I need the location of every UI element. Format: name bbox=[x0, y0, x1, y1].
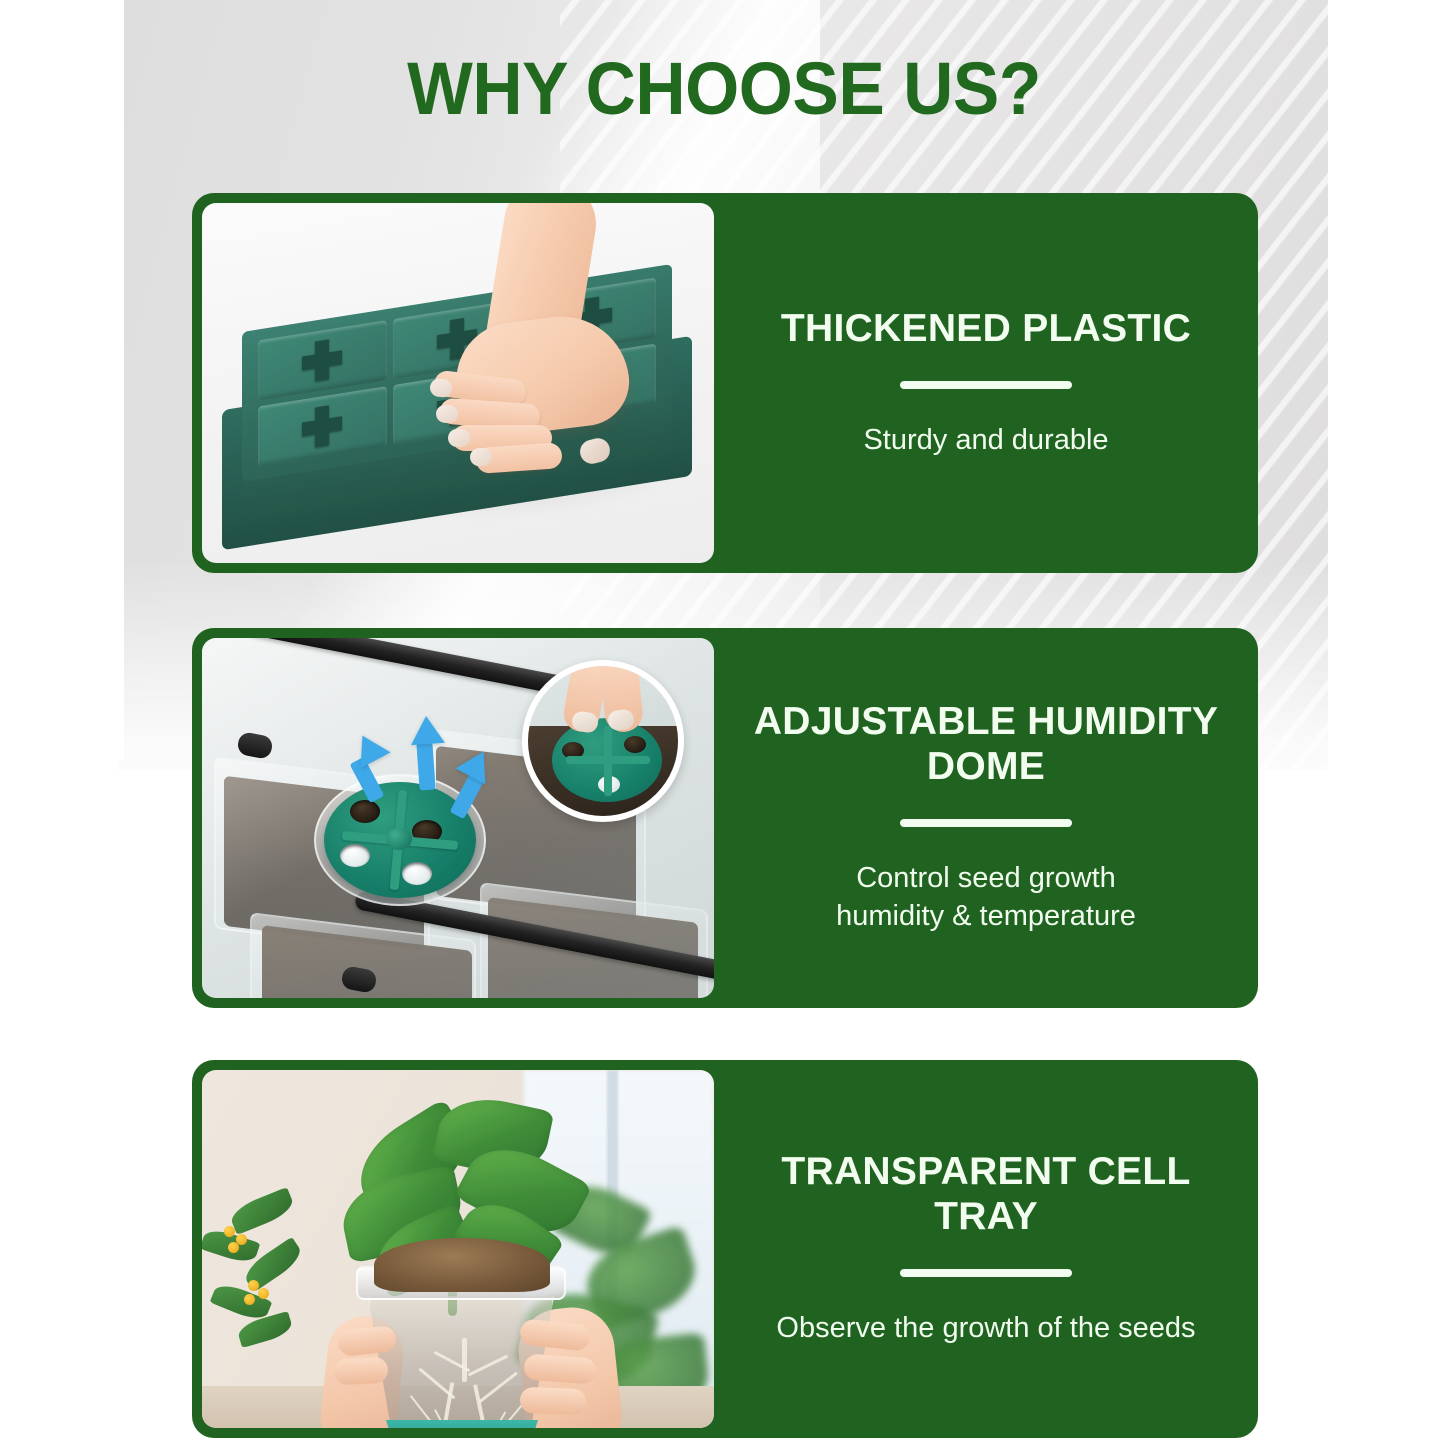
fingernail bbox=[448, 429, 470, 447]
root bbox=[410, 1395, 433, 1423]
feature-subtitle: Observe the growth of the seeds bbox=[776, 1309, 1195, 1347]
vent-closeup-inset bbox=[522, 660, 684, 822]
vent-hole bbox=[340, 844, 370, 867]
feature-photo-humidity-dome bbox=[202, 638, 714, 998]
vent-spoke bbox=[604, 726, 612, 796]
divider-line bbox=[900, 819, 1072, 827]
divider-line bbox=[900, 381, 1072, 389]
feature-subtitle: Sturdy and durable bbox=[863, 421, 1108, 459]
berry bbox=[228, 1242, 239, 1253]
feature-heading: TRANSPARENT CELL TRAY bbox=[742, 1150, 1230, 1239]
finger bbox=[333, 1357, 388, 1386]
fingernail bbox=[435, 404, 458, 423]
berry bbox=[248, 1280, 259, 1291]
cross-indent-icon bbox=[302, 337, 342, 383]
feature-heading: ADJUSTABLE HUMIDITY DOME bbox=[742, 700, 1230, 789]
airflow-arrow-stem bbox=[416, 742, 435, 791]
root bbox=[462, 1338, 467, 1382]
cross-indent-icon bbox=[302, 403, 342, 449]
berry bbox=[258, 1288, 269, 1299]
berry bbox=[244, 1294, 255, 1305]
berry bbox=[224, 1226, 235, 1237]
soil-plug bbox=[374, 1238, 550, 1292]
finger bbox=[523, 1354, 597, 1385]
feature-card-transparent-cell-tray: TRANSPARENT CELL TRAY Observe the growth… bbox=[192, 1060, 1258, 1438]
vent-hole bbox=[350, 800, 380, 823]
feature-card-adjustable-humidity-dome: ADJUSTABLE HUMIDITY DOME Control seed gr… bbox=[192, 628, 1258, 1008]
divider-line bbox=[900, 1269, 1072, 1277]
berry-branch bbox=[208, 1148, 318, 1368]
pot-teal-base bbox=[386, 1420, 538, 1428]
feature-text-panel: THICKENED PLASTIC Sturdy and durable bbox=[714, 193, 1258, 573]
finger bbox=[520, 1387, 587, 1415]
feature-card-thickened-plastic: THICKENED PLASTIC Sturdy and durable bbox=[192, 193, 1258, 573]
vent-hub bbox=[386, 828, 412, 850]
tray-cell bbox=[258, 386, 387, 466]
feature-subtitle-line1: Control seed growth bbox=[856, 862, 1116, 894]
vent-hole bbox=[402, 862, 432, 885]
feature-heading: THICKENED PLASTIC bbox=[781, 307, 1191, 351]
page-title: WHY CHOOSE US? bbox=[43, 46, 1404, 131]
leaf bbox=[236, 1311, 294, 1348]
feature-text-panel: TRANSPARENT CELL TRAY Observe the growth… bbox=[714, 1060, 1258, 1438]
leaf bbox=[227, 1187, 296, 1235]
vent-disc bbox=[324, 782, 476, 898]
feature-subtitle: Control seed growthhumidity & temperatur… bbox=[836, 859, 1136, 936]
vent-disc bbox=[552, 718, 662, 802]
feature-subtitle-line2: humidity & temperature bbox=[836, 900, 1136, 932]
root bbox=[468, 1355, 509, 1377]
feature-text-panel: ADJUSTABLE HUMIDITY DOME Control seed gr… bbox=[714, 628, 1258, 1008]
vent-hole bbox=[624, 736, 646, 753]
root bbox=[478, 1372, 518, 1404]
feature-photo-thickened-plastic bbox=[202, 203, 714, 563]
hand-pressing-tray bbox=[430, 203, 640, 489]
feature-photo-transparent-tray bbox=[202, 1070, 714, 1428]
visible-roots bbox=[392, 1338, 548, 1428]
thumbnail bbox=[578, 436, 613, 467]
airflow-arrow-icon bbox=[409, 715, 445, 745]
